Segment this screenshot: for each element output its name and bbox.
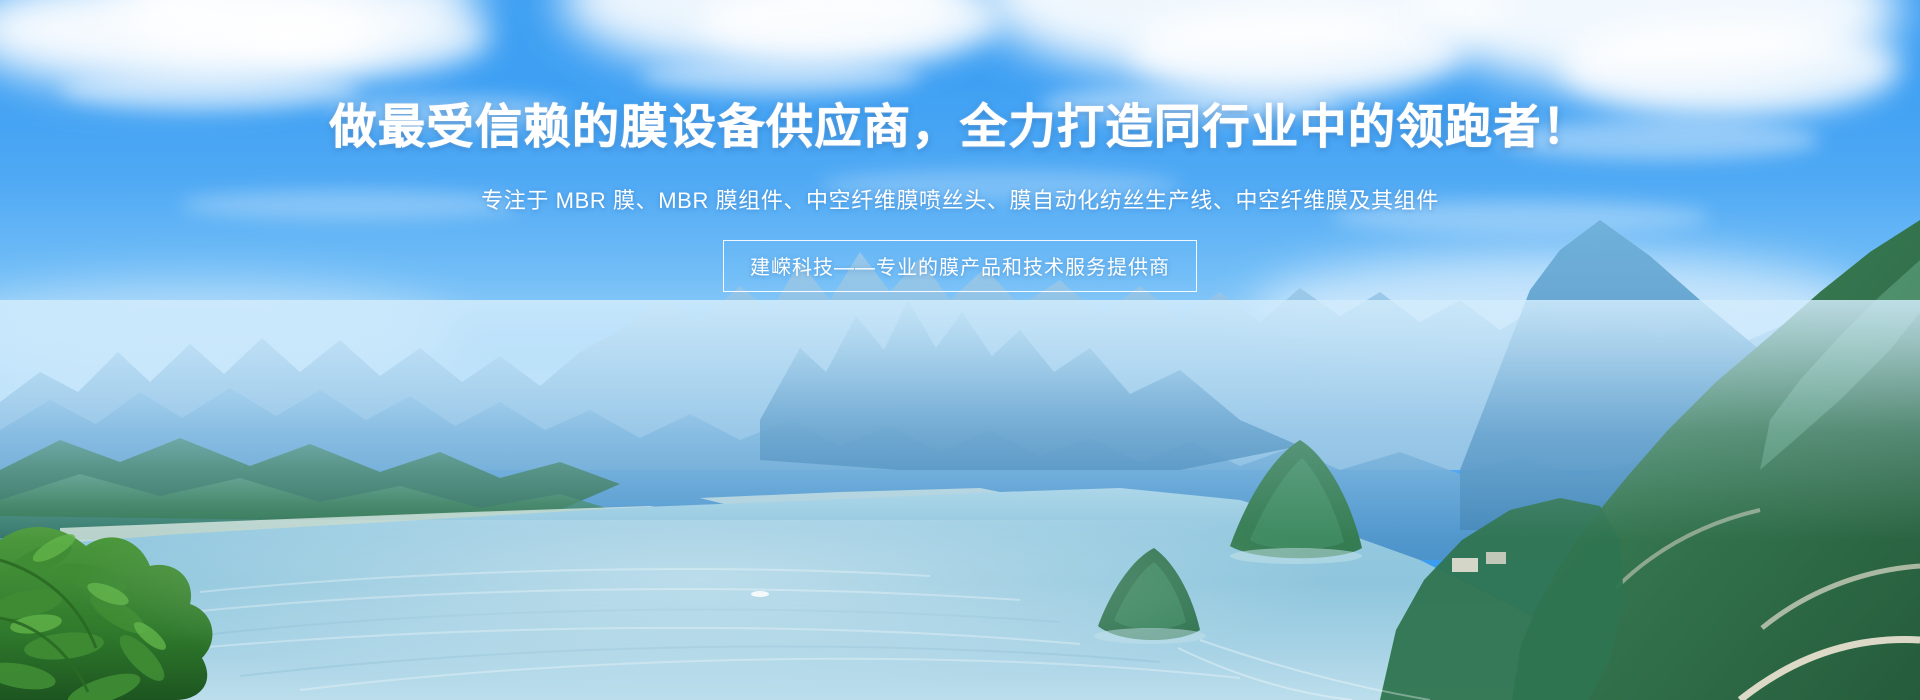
hero-banner: 做最受信赖的膜设备供应商，全力打造同行业中的领跑者！ 专注于 MBR 膜、MBR… (0, 0, 1920, 700)
banner-headline: 做最受信赖的膜设备供应商，全力打造同行业中的领跑者！ (0, 101, 1920, 156)
banner-tagline-box: 建嵘科技——专业的膜产品和技术服务提供商 (723, 240, 1197, 292)
banner-subheadline: 专注于 MBR 膜、MBR 膜组件、中空纤维膜喷丝头、膜自动化纺丝生产线、中空纤… (0, 184, 1920, 217)
